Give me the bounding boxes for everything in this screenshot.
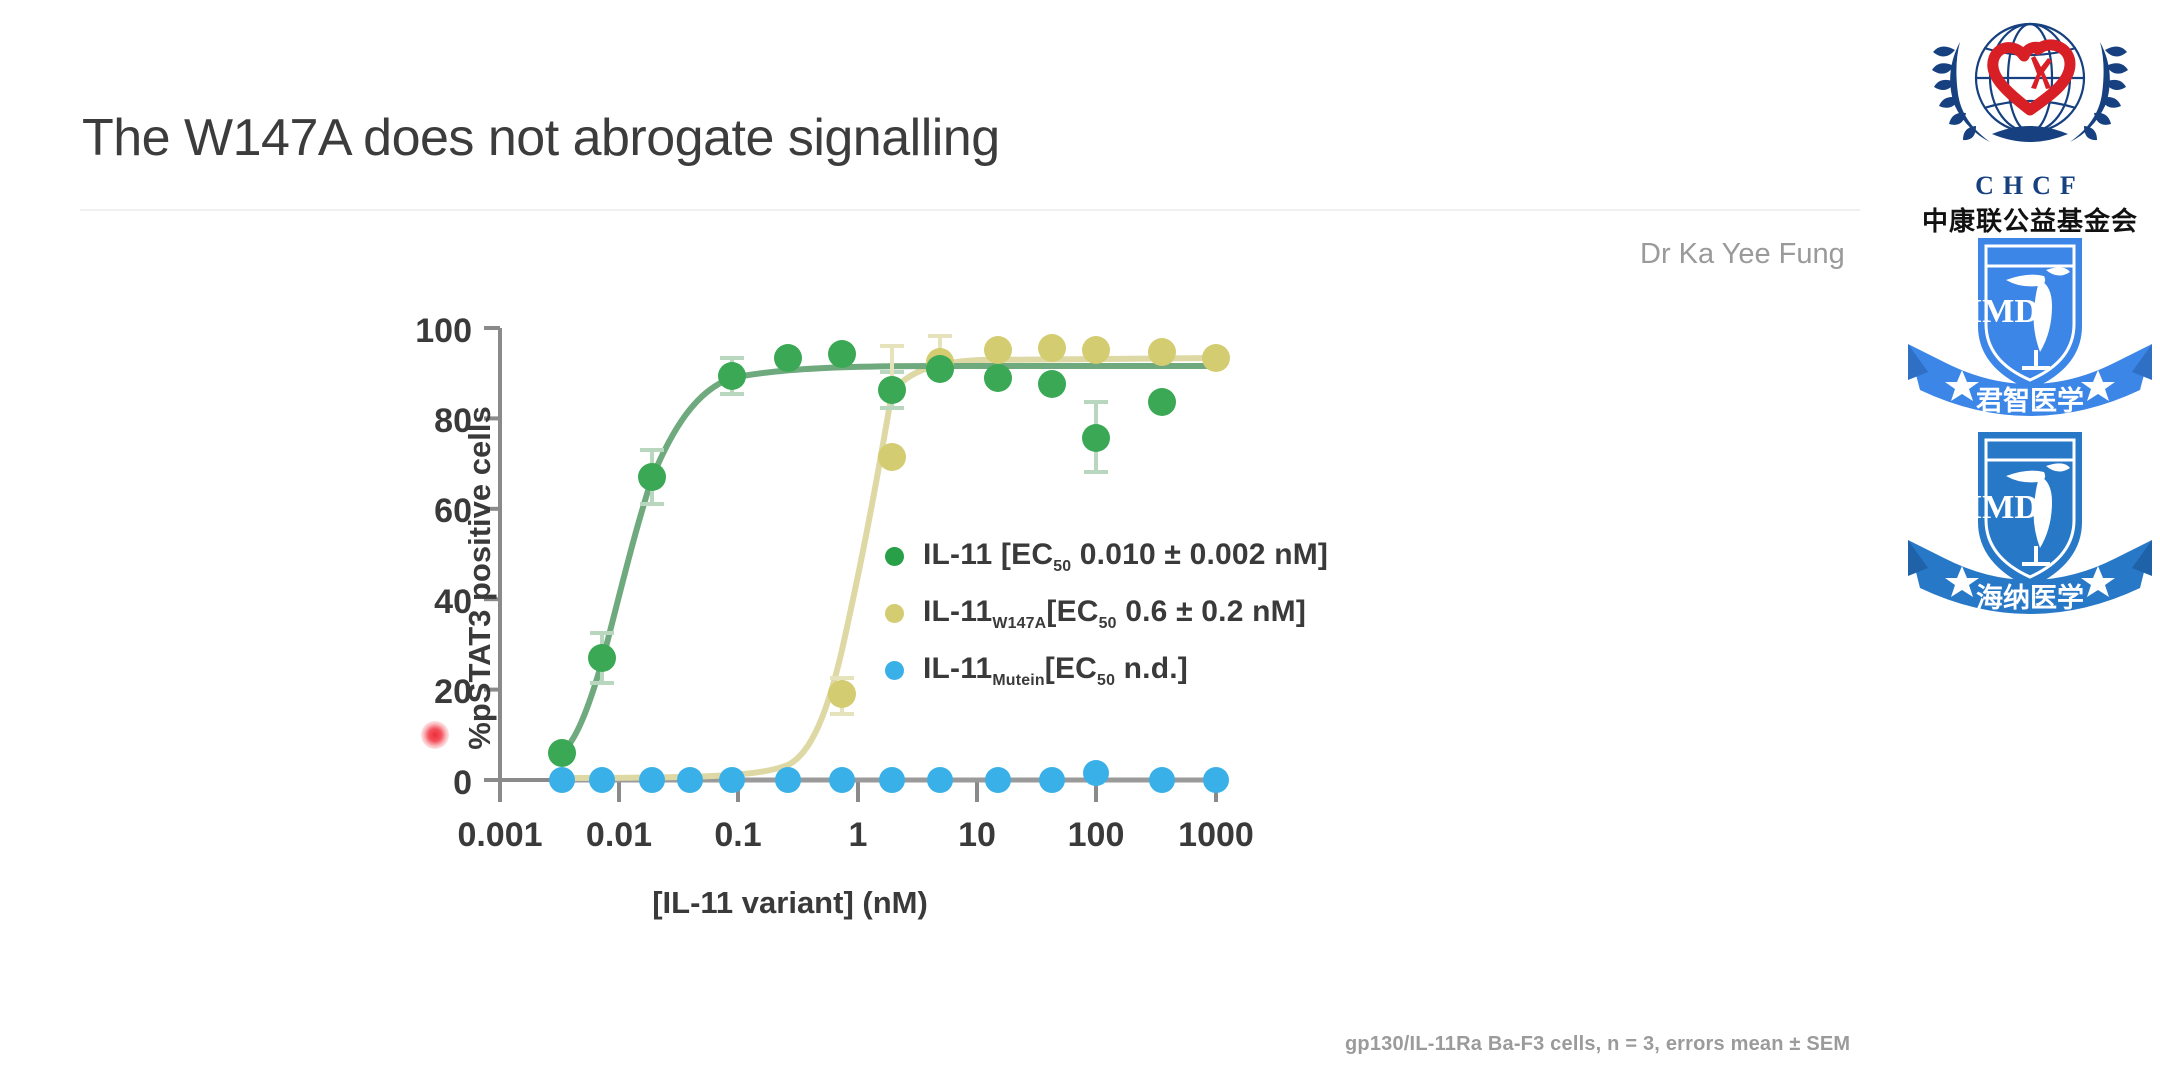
imd-shield-icon: IMD 君智医学 — [1900, 222, 2160, 427]
imd-haina-chinese-text: 海纳医学 — [1976, 582, 2084, 613]
chcf-emblem-icon — [1900, 6, 2160, 166]
points-il11-mutein — [549, 760, 1229, 793]
legend-item-il11-mutein[interactable]: IL-11Mutein[EC50 n.d.] — [885, 642, 1328, 699]
x-axis-label: [IL-11 variant] (nM) — [440, 885, 1140, 921]
logo-stack: CHCF 中康联公益基金会 IMD — [1900, 0, 2160, 650]
y-axis-label: %pSTAT3 positive cells — [462, 368, 498, 788]
legend-item-il11[interactable]: IL-11 [EC50 0.010 ± 0.002 nM] — [885, 528, 1328, 585]
legend-label-il11: IL-11 [EC50 0.010 ± 0.002 nM] — [923, 538, 1328, 576]
xtick-1: 1 — [849, 816, 868, 854]
xtick-10: 10 — [958, 816, 996, 854]
legend-item-il11-w147a[interactable]: IL-11W147A[EC50 0.6 ± 0.2 nM] — [885, 585, 1328, 642]
xtick-0.1: 0.1 — [714, 816, 761, 854]
title-divider — [80, 209, 1860, 211]
chcf-acronym: CHCF — [1900, 171, 2160, 201]
legend-dot-icon — [885, 547, 904, 566]
imd-junzhi-chinese-text: 君智医学 — [1976, 385, 2084, 416]
legend-label-il11-w147a: IL-11W147A[EC50 0.6 ± 0.2 nM] — [923, 595, 1306, 633]
imd-acronym-text: IMD — [1969, 293, 2039, 330]
imd-acronym-text: IMD — [1969, 489, 2039, 526]
legend-label-il11-mutein: IL-11Mutein[EC50 n.d.] — [923, 652, 1188, 690]
xtick-1000: 1000 — [1178, 816, 1254, 854]
xtick-0.001: 0.001 — [457, 816, 542, 854]
imd-junzhi-logo: IMD 君智医学 — [1900, 222, 2160, 427]
author-label: Dr Ka Yee Fung — [1640, 238, 1845, 271]
legend-dot-icon — [885, 661, 904, 680]
xtick-0.01: 0.01 — [586, 816, 652, 854]
imd-shield-icon: IMD 海纳医学 — [1900, 414, 2160, 629]
laser-pointer-dot — [421, 721, 449, 749]
imd-haina-logo: IMD 海纳医学 — [1900, 414, 2160, 629]
ytick-100: 100 — [415, 312, 472, 350]
xtick-100: 100 — [1068, 816, 1125, 854]
presentation-slide: The W147A does not abrogate signalling D… — [0, 0, 2160, 1080]
figure-caption: gp130/IL-11Ra Ba-F3 cells, n = 3, errors… — [1345, 1033, 1850, 1056]
chart-legend: IL-11 [EC50 0.010 ± 0.002 nM] IL-11W147A… — [885, 528, 1328, 699]
legend-dot-icon — [885, 604, 904, 623]
chcf-logo: CHCF 中康联公益基金会 — [1900, 6, 2160, 216]
page-title: The W147A does not abrogate signalling — [82, 108, 1000, 168]
